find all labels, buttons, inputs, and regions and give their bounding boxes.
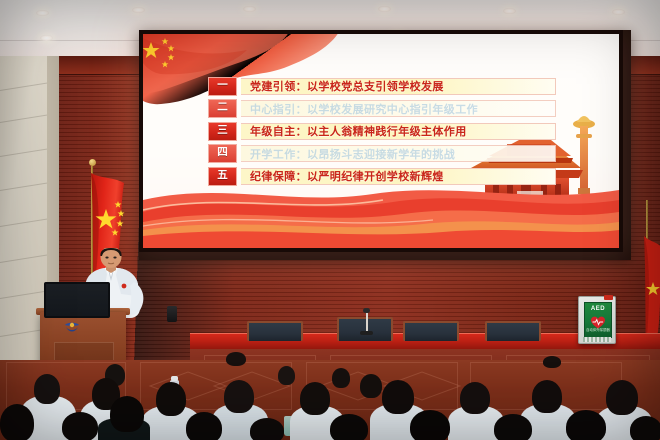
slide-row-numeral: 五	[208, 167, 237, 186]
thermos-cup	[167, 306, 177, 322]
audience-head	[62, 412, 98, 440]
ceiling-downlight	[36, 10, 49, 16]
slide-row-numeral: 一	[208, 77, 237, 96]
ceiling-downlight	[40, 35, 53, 41]
slide-row-bar: 中心指引：以学校发展研究中心指引年级工作	[241, 100, 556, 117]
bottle-cap	[171, 376, 178, 381]
slide-heading-list: 一 党建引领：以学校党总支引领学校发展 二 中心指引：以学校发展研究中心指引年级…	[208, 77, 556, 190]
audience-head	[566, 410, 606, 440]
ceiling-downlight	[243, 6, 256, 12]
audience-head	[110, 396, 144, 432]
audience-head	[410, 410, 450, 440]
audience-head	[332, 368, 350, 388]
aed-window: AED 自动体外除颤器	[584, 302, 612, 338]
audience-head	[532, 380, 562, 413]
audience-head	[606, 380, 638, 415]
ceiling-downlight	[612, 9, 625, 15]
audience-head	[543, 356, 561, 368]
flagpole-finial	[89, 159, 96, 166]
slide-row-text: 纪律保障：以严明纪律开创学校新辉煌	[250, 168, 444, 184]
aed-label: AED	[585, 306, 611, 312]
audience-head	[630, 416, 660, 440]
slide-row-numeral: 三	[208, 122, 237, 141]
slide-row-bar: 党建引领：以学校党总支引领学校发展	[241, 78, 556, 95]
slide-row-bar: 开学工作：以昂扬斗志迎接新学年的挑战	[241, 145, 556, 162]
slide-row-text: 年级自主：以主人翁精神践行年级主体作用	[250, 123, 467, 139]
monitor-stand	[70, 312, 82, 316]
audience-head	[226, 352, 246, 366]
aed-tag	[604, 295, 613, 300]
ceiling-downlight	[503, 8, 516, 14]
stage-chair[interactable]	[247, 321, 303, 341]
stage-chair[interactable]	[485, 321, 541, 341]
audience-head	[278, 366, 295, 385]
slide-row-text: 党建引领：以学校党总支引领学校发展	[250, 78, 444, 94]
audience-head	[330, 414, 368, 440]
slide-row[interactable]: 二 中心指引：以学校发展研究中心指引年级工作	[208, 100, 556, 118]
seated-audience	[0, 360, 660, 440]
aed-subtitle: 自动体外除颤器	[585, 327, 611, 332]
audience-head	[382, 380, 414, 414]
audience-head	[460, 382, 490, 414]
microphone-base	[360, 331, 373, 335]
slide-row-bar: 纪律保障：以严明纪律开创学校新辉煌	[241, 168, 556, 185]
audience-head	[0, 404, 34, 440]
aed-base-strip	[583, 337, 611, 342]
led-screen-frame: 一 党建引领：以学校党总支引领学校发展 二 中心指引：以学校发展研究中心指引年级…	[139, 30, 631, 260]
slide-row-numeral: 四	[208, 144, 237, 163]
audience-head	[300, 382, 330, 415]
slide-row-text: 开学工作：以昂扬斗志迎接新学年的挑战	[250, 146, 455, 162]
slide-row[interactable]: 一 党建引领：以学校党总支引领学校发展	[208, 77, 556, 95]
ceiling-downlight	[378, 6, 391, 12]
audience-head	[224, 380, 254, 413]
slide-row[interactable]: 五 纪律保障：以严明纪律开创学校新辉煌	[208, 167, 556, 185]
audience-head	[360, 374, 382, 398]
aed-cabinet[interactable]: AED 自动体外除颤器	[578, 296, 616, 344]
presentation-slide[interactable]: 一 党建引领：以学校党总支引领学校发展 二 中心指引：以学校发展研究中心指引年级…	[143, 34, 619, 248]
slide-row[interactable]: 三 年级自主：以主人翁精神践行年级主体作用	[208, 122, 556, 140]
slide-row-text: 中心指引：以学校发展研究中心指引年级工作	[250, 101, 478, 117]
ceiling-downlight	[132, 7, 145, 13]
audience-head	[156, 382, 186, 416]
stage-chair[interactable]	[403, 321, 459, 341]
slide-row[interactable]: 四 开学工作：以昂扬斗志迎接新学年的挑战	[208, 145, 556, 163]
audience-head	[34, 374, 60, 404]
slide-row-bar: 年级自主：以主人翁精神践行年级主体作用	[241, 123, 556, 140]
table-microphone	[366, 313, 368, 331]
slide-row-numeral: 二	[208, 99, 237, 118]
photo-scene: 一 党建引领：以学校党总支引领学校发展 二 中心指引：以学校发展研究中心指引年级…	[0, 0, 660, 440]
audience-head	[186, 412, 222, 440]
school-emblem	[63, 321, 81, 335]
audience-head	[494, 414, 532, 440]
audience-head	[250, 418, 284, 440]
